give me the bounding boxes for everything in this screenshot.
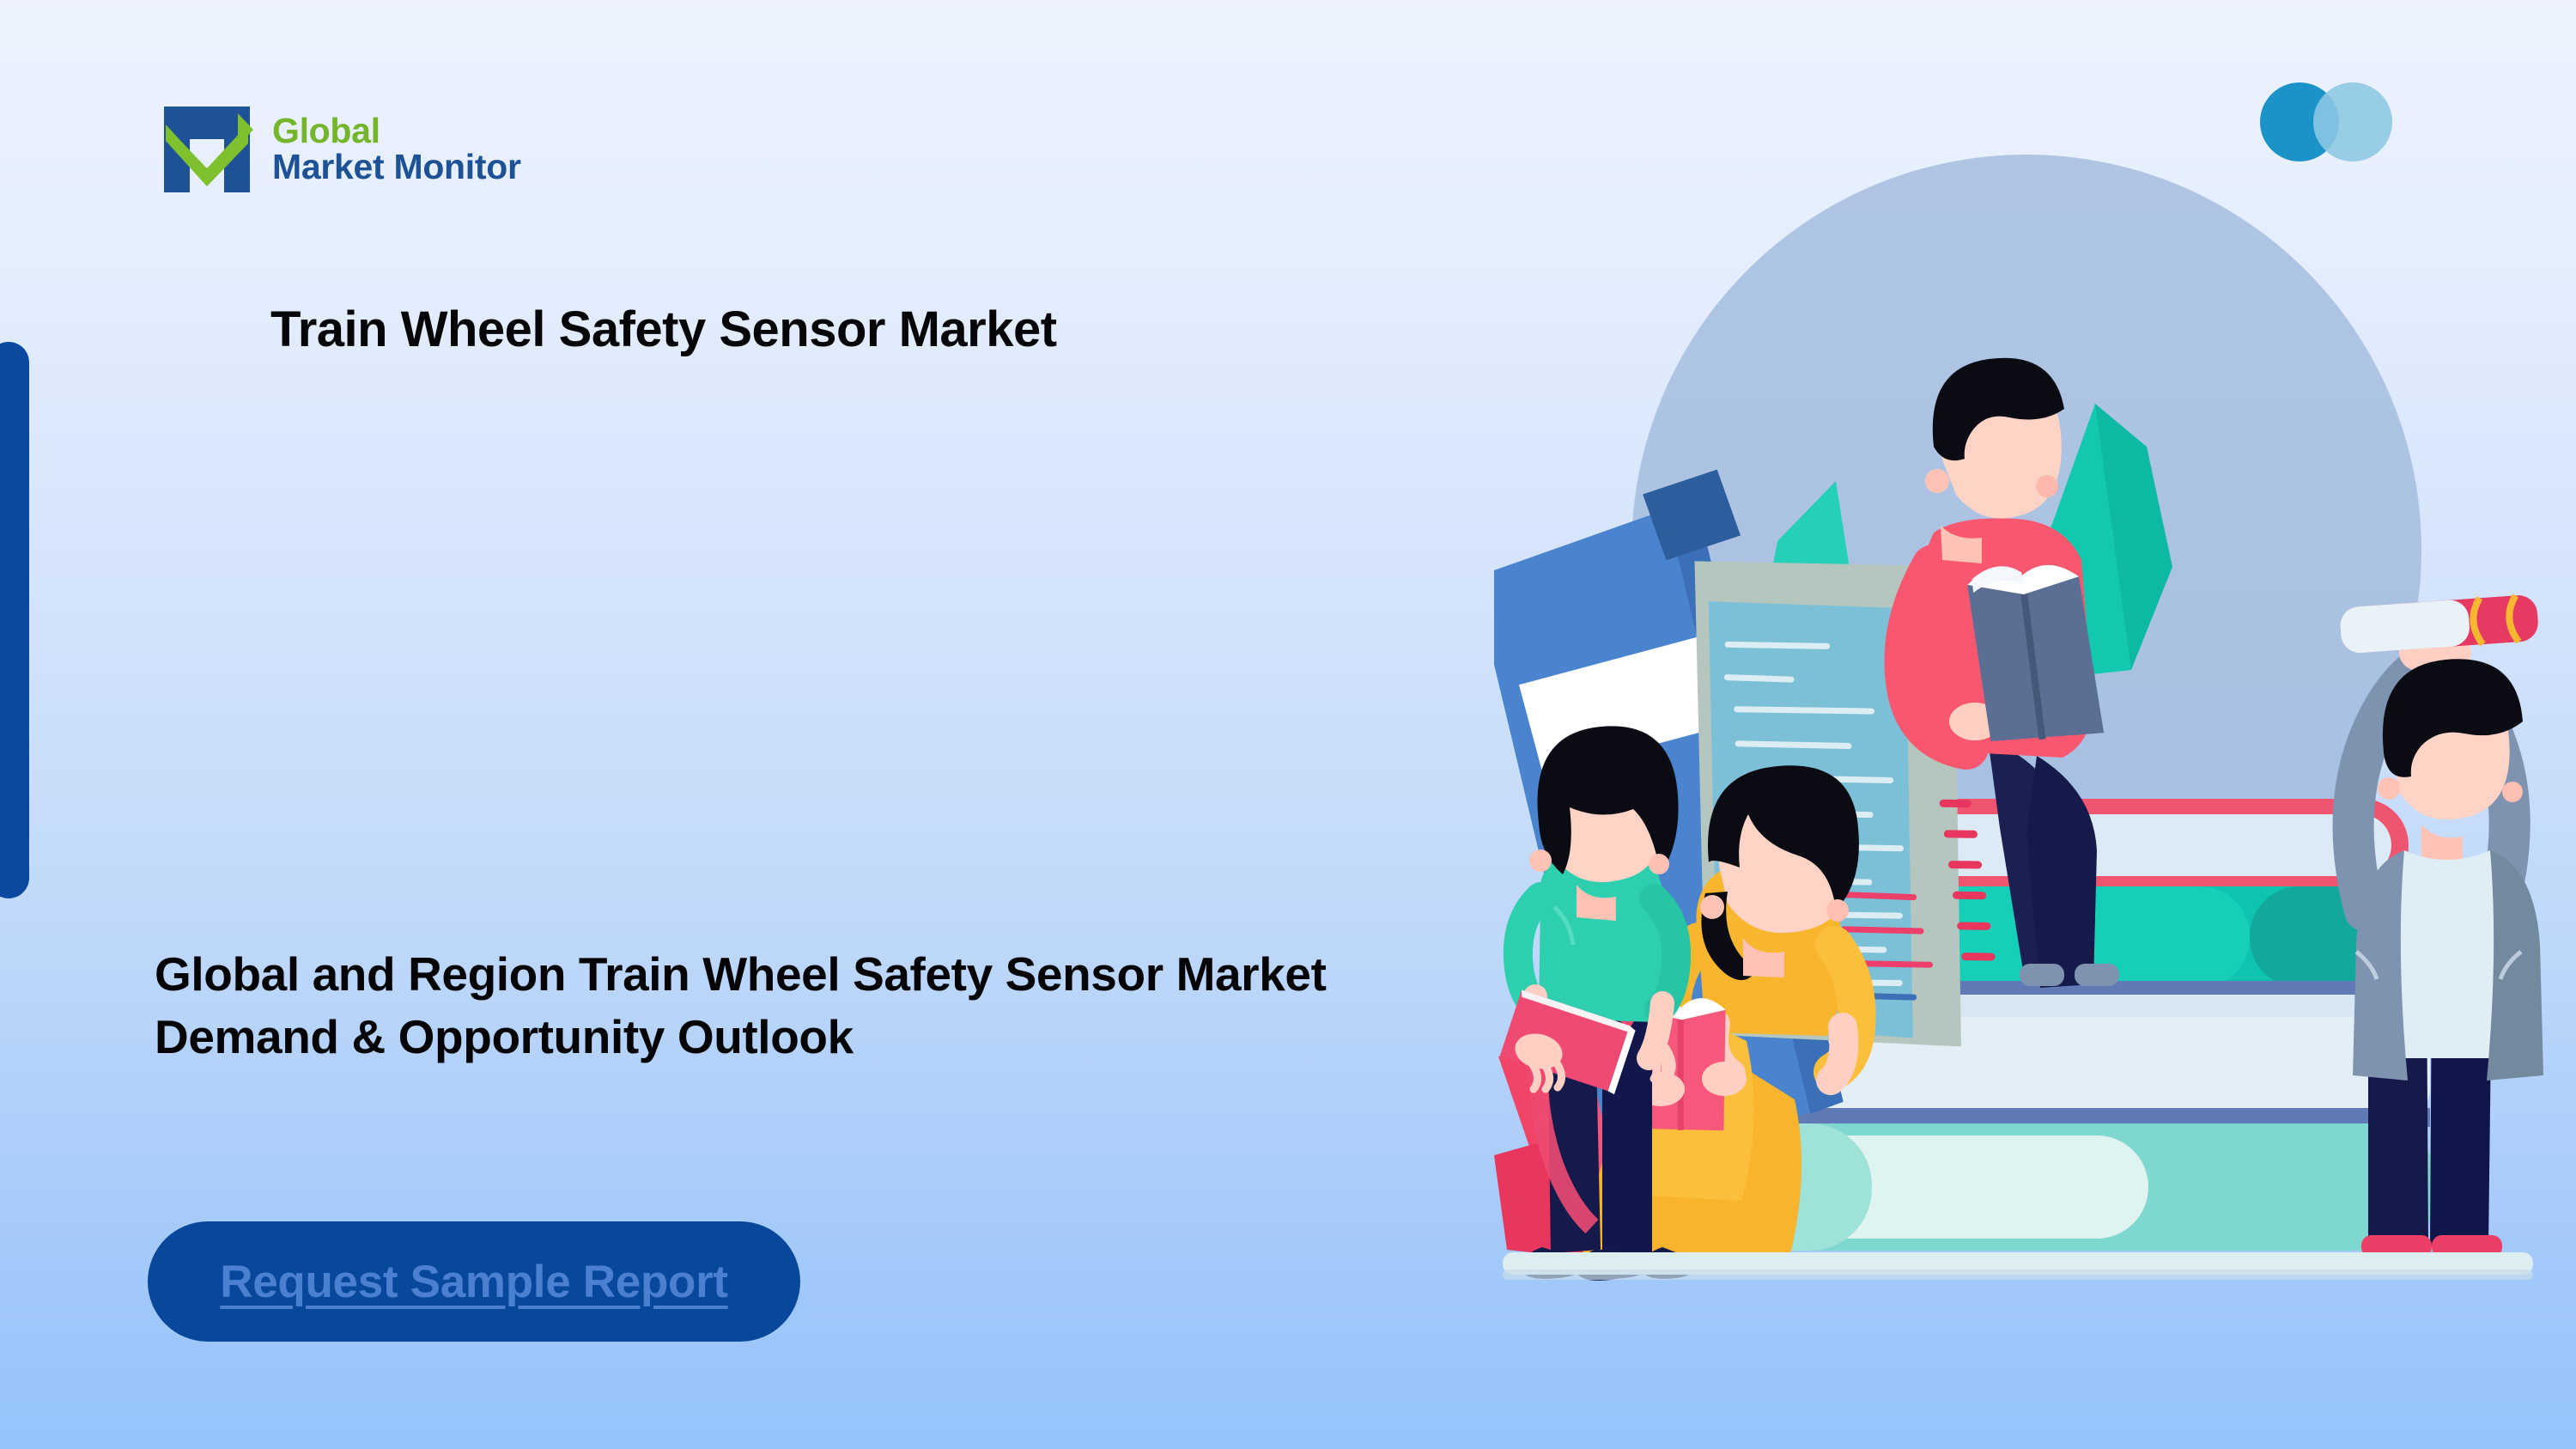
brand-logo[interactable]: Global Market Monitor [159,101,521,198]
ground-shadow [1503,1269,2533,1280]
vertical-accent-bar-icon [0,342,29,898]
page-title: Train Wheel Safety Sensor Market [270,301,1057,358]
request-sample-report-button[interactable]: Request Sample Report [148,1221,800,1342]
hero-headline: Global and Region Train Wheel Safety Sen… [155,943,1374,1068]
m-checkmark-logo-icon [159,101,255,198]
book-stack-light-teal-book [1700,1123,2439,1251]
logo-text-global: Global [272,113,521,149]
logo-text-market-monitor: Market Monitor [272,149,521,186]
students-reading-books-illustration [1494,0,2576,1449]
standing-boy-lifting-book [2339,594,2543,1257]
request-sample-report-label: Request Sample Report [220,1256,728,1308]
